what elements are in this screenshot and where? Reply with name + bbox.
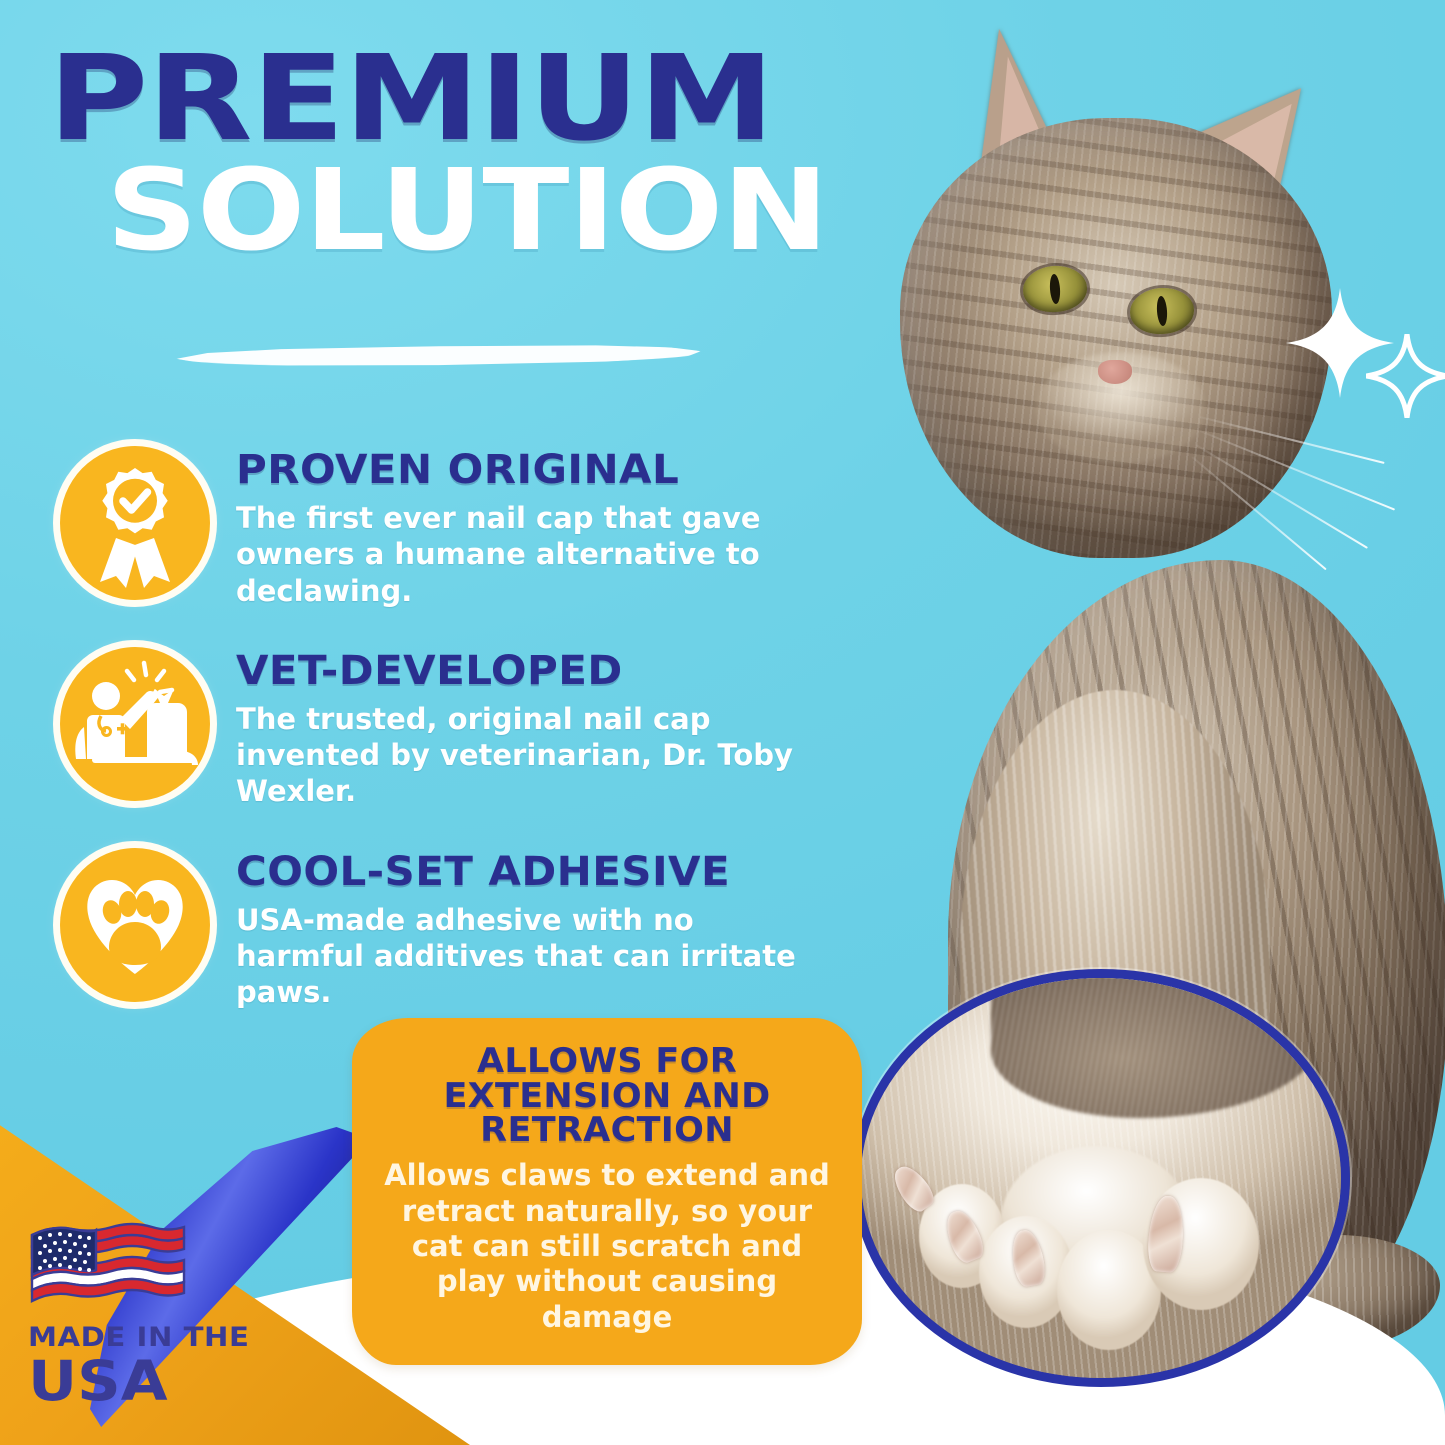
callout-body: Allows claws to extend and retract natur… <box>382 1158 832 1335</box>
award-ribbon-check-icon <box>60 446 210 600</box>
extension-retraction-callout: ALLOWS FOR EXTENSION AND RETRACTION Allo… <box>352 1018 862 1365</box>
heart-paw-icon <box>60 848 210 1002</box>
feature-title: PROVEN ORIGINAL <box>236 450 845 490</box>
feature-item: PROVEN ORIGINAL The first ever nail cap … <box>60 446 850 609</box>
headline-block: PREMIUM SOLUTION <box>48 48 838 260</box>
callout-title: ALLOWS FOR EXTENSION AND RETRACTION <box>375 1044 839 1148</box>
feature-body: The trusted, original nail cap invented … <box>236 701 816 810</box>
cat-paw-nail-caps-closeup <box>852 969 1350 1387</box>
headline-line-1: PREMIUM <box>48 48 964 149</box>
feature-item: VET-DEVELOPED The trusted, original nail… <box>60 647 850 810</box>
headline-line-2: SOLUTION <box>106 163 940 259</box>
product-infographic: PREMIUM SOLUTION PROVEN ORIGINAL <box>0 0 1445 1445</box>
vet-high-five-cat-icon <box>60 647 210 801</box>
cat-nose <box>1098 360 1132 384</box>
feature-body: USA-made adhesive with no harmful additi… <box>236 902 816 1011</box>
sparkle-star-outline-icon <box>1366 334 1445 418</box>
made-in-usa-line-2: USA <box>28 1355 287 1407</box>
feature-item: COOL-SET ADHESIVE USA-made adhesive with… <box>60 848 850 1011</box>
feature-title: COOL-SET ADHESIVE <box>236 852 845 892</box>
feature-title: VET-DEVELOPED <box>236 651 845 691</box>
cat-head <box>900 118 1332 558</box>
feature-body: The first ever nail cap that gave owners… <box>236 500 816 609</box>
usa-flag-icon <box>28 1220 188 1312</box>
feature-list: PROVEN ORIGINAL The first ever nail cap … <box>60 446 850 1048</box>
made-in-usa-badge: MADE IN THE USA <box>28 1220 263 1407</box>
